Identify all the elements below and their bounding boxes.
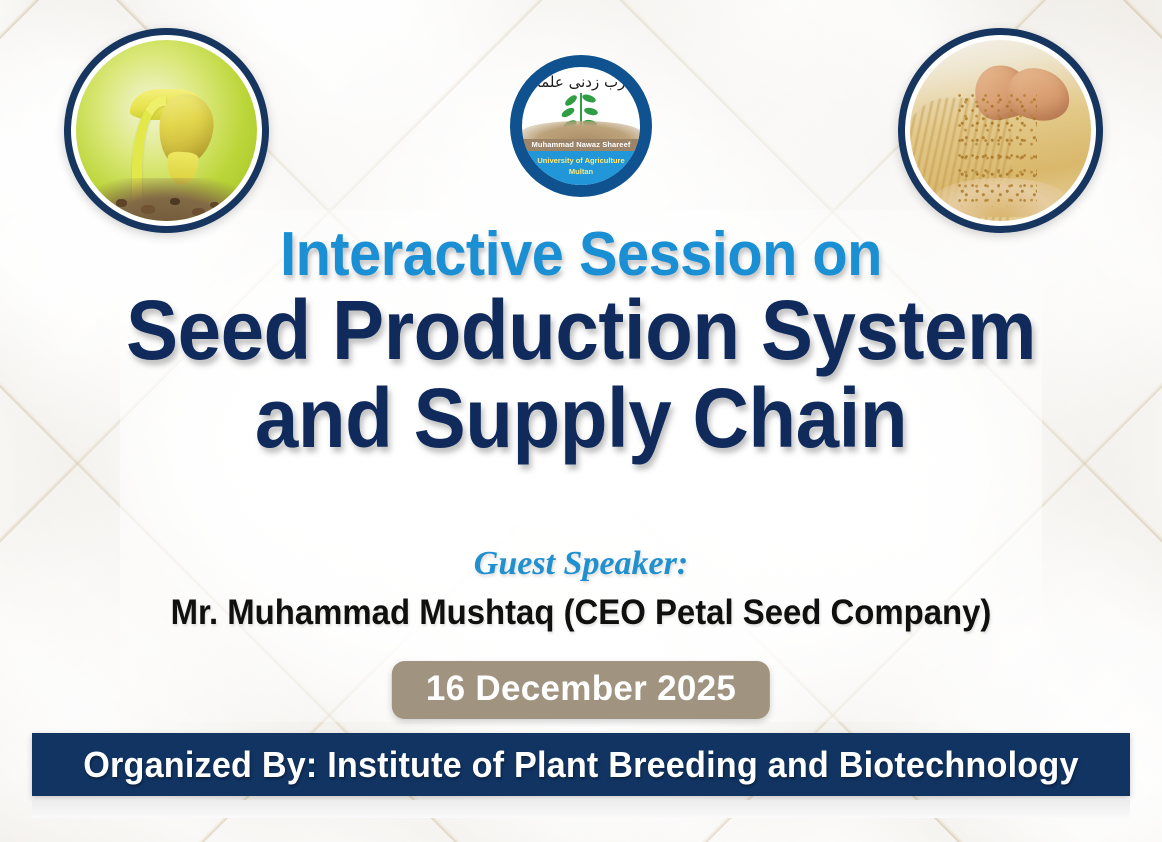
title-line-2: Seed Production System [41, 286, 1122, 374]
gear-icon: رب زدنی علما Muhammad Nawaz Shareef Univ… [501, 46, 661, 206]
guest-speaker-label: Guest Speaker: [0, 545, 1162, 583]
university-logo: رب زدنی علما Muhammad Nawaz Shareef Univ… [501, 46, 661, 206]
falling-grain [957, 94, 1037, 206]
title-line-3: and Supply Chain [41, 374, 1122, 462]
germinating-seed-photo [64, 28, 269, 233]
organizer-banner: Organized By: Institute of Plant Breedin… [32, 733, 1130, 796]
soil-clod [116, 199, 127, 207]
organizer-text: Organized By: Institute of Plant Breedin… [83, 744, 1078, 786]
soil-clod [141, 205, 155, 214]
photo-left-image [76, 40, 257, 221]
leaf-icon [560, 106, 576, 118]
logo-inner-disc: رب زدنی علما Muhammad Nawaz Shareef Univ… [522, 67, 640, 185]
guest-speaker-name: Mr. Muhammad Mushtaq (CEO Petal Seed Com… [35, 593, 1127, 633]
leaf-icon [581, 92, 597, 104]
footer-under-strip [32, 800, 1130, 818]
soil-clod [192, 208, 205, 216]
logo-university-name: University of Agriculture Multan [522, 151, 640, 185]
photo-right-image [910, 40, 1091, 221]
event-date-badge: 16 December 2025 [392, 661, 770, 719]
poster-title: Interactive Session on Seed Production S… [0, 224, 1162, 462]
soil-clod [170, 198, 180, 205]
soil-clod [210, 202, 219, 208]
wheat-grain-photo [898, 28, 1103, 233]
event-poster: رب زدنی علما Muhammad Nawaz Shareef Univ… [0, 0, 1162, 842]
title-line-1: Interactive Session on [41, 224, 1122, 286]
logo-urdu-motto: رب زدنی علما [522, 75, 640, 90]
logo-university-founder: Muhammad Nawaz Shareef [522, 139, 640, 151]
logo-university-line2: Multan [522, 166, 640, 177]
leaf-icon [583, 106, 599, 117]
leaf-icon [563, 94, 579, 108]
logo-university-line1: University of Agriculture [522, 155, 640, 166]
